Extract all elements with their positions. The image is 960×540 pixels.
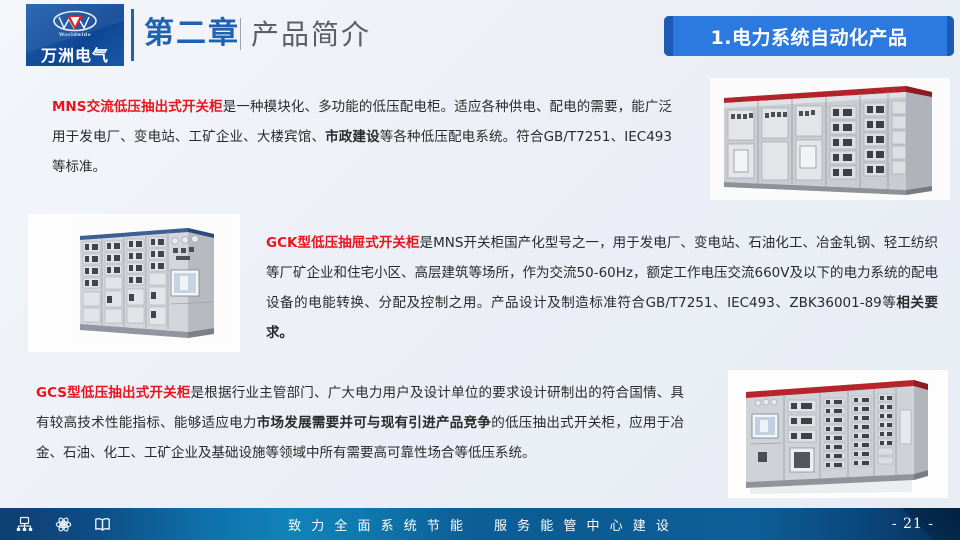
section-banner[interactable]: 1.电力系统自动化产品: [664, 16, 954, 56]
mns-switchgear-photo: [710, 78, 950, 200]
paragraph-gcs-bold: 市场发展需要并可与现有引进产品竞争: [257, 415, 492, 431]
paragraph-gcs: GCS型低压抽出式开关柜是根据行业主管部门、广大电力用户及设计单位的要求设计研制…: [36, 378, 684, 468]
slide-header: Worldwide 万洲电气 第二章 产品简介 1.电力系统自动化产品: [0, 0, 960, 72]
paragraph-mns-bold: 市政建设: [325, 129, 380, 145]
company-logo: Worldwide 万洲电气: [26, 4, 124, 66]
paragraph-mns: MNS交流低压抽出式开关柜是一种模块化、多功能的低压配电柜。适应各种供电、配电的…: [52, 92, 672, 182]
paragraph-gck: GCK型低压抽屉式开关柜是MNS开关柜国产化型号之一，用于发电厂、变电站、石油化…: [266, 228, 938, 348]
slide-footer: 致 力 全 面 系 统 节 能 服 务 能 管 中 心 建 设 - 21 -: [0, 508, 960, 540]
page-number: - 21 -: [892, 508, 934, 540]
chapter-title: 第二章: [144, 14, 240, 54]
logo-cn-text: 万洲电气: [26, 42, 124, 66]
page-subtitle: 产品简介: [251, 16, 371, 54]
gck-switchgear-photo: [28, 214, 240, 352]
gcs-switchgear-photo: [728, 370, 948, 498]
subtitle-divider: [240, 18, 241, 50]
logo-sub-text: Worldwide: [26, 32, 124, 38]
worldwide-w-logo-icon: [26, 10, 124, 34]
paragraph-mns-keyword: MNS交流低压抽出式开关柜: [52, 99, 223, 115]
footer-slogan-right: 服 务 能 管 中 心 建 设: [494, 515, 672, 534]
footer-slogan: 致 力 全 面 系 统 节 能 服 务 能 管 中 心 建 设: [0, 508, 960, 540]
title-divider: [131, 9, 134, 61]
slide-root: Worldwide 万洲电气 第二章 产品简介 1.电力系统自动化产品 MNS交…: [0, 0, 960, 540]
paragraph-gck-keyword: GCK型低压抽屉式开关柜: [266, 235, 420, 251]
banner-label: 1.电力系统自动化产品: [664, 16, 954, 56]
paragraph-gcs-keyword: GCS型低压抽出式开关柜: [36, 385, 191, 401]
footer-slogan-left: 致 力 全 面 系 统 节 能: [288, 515, 466, 534]
